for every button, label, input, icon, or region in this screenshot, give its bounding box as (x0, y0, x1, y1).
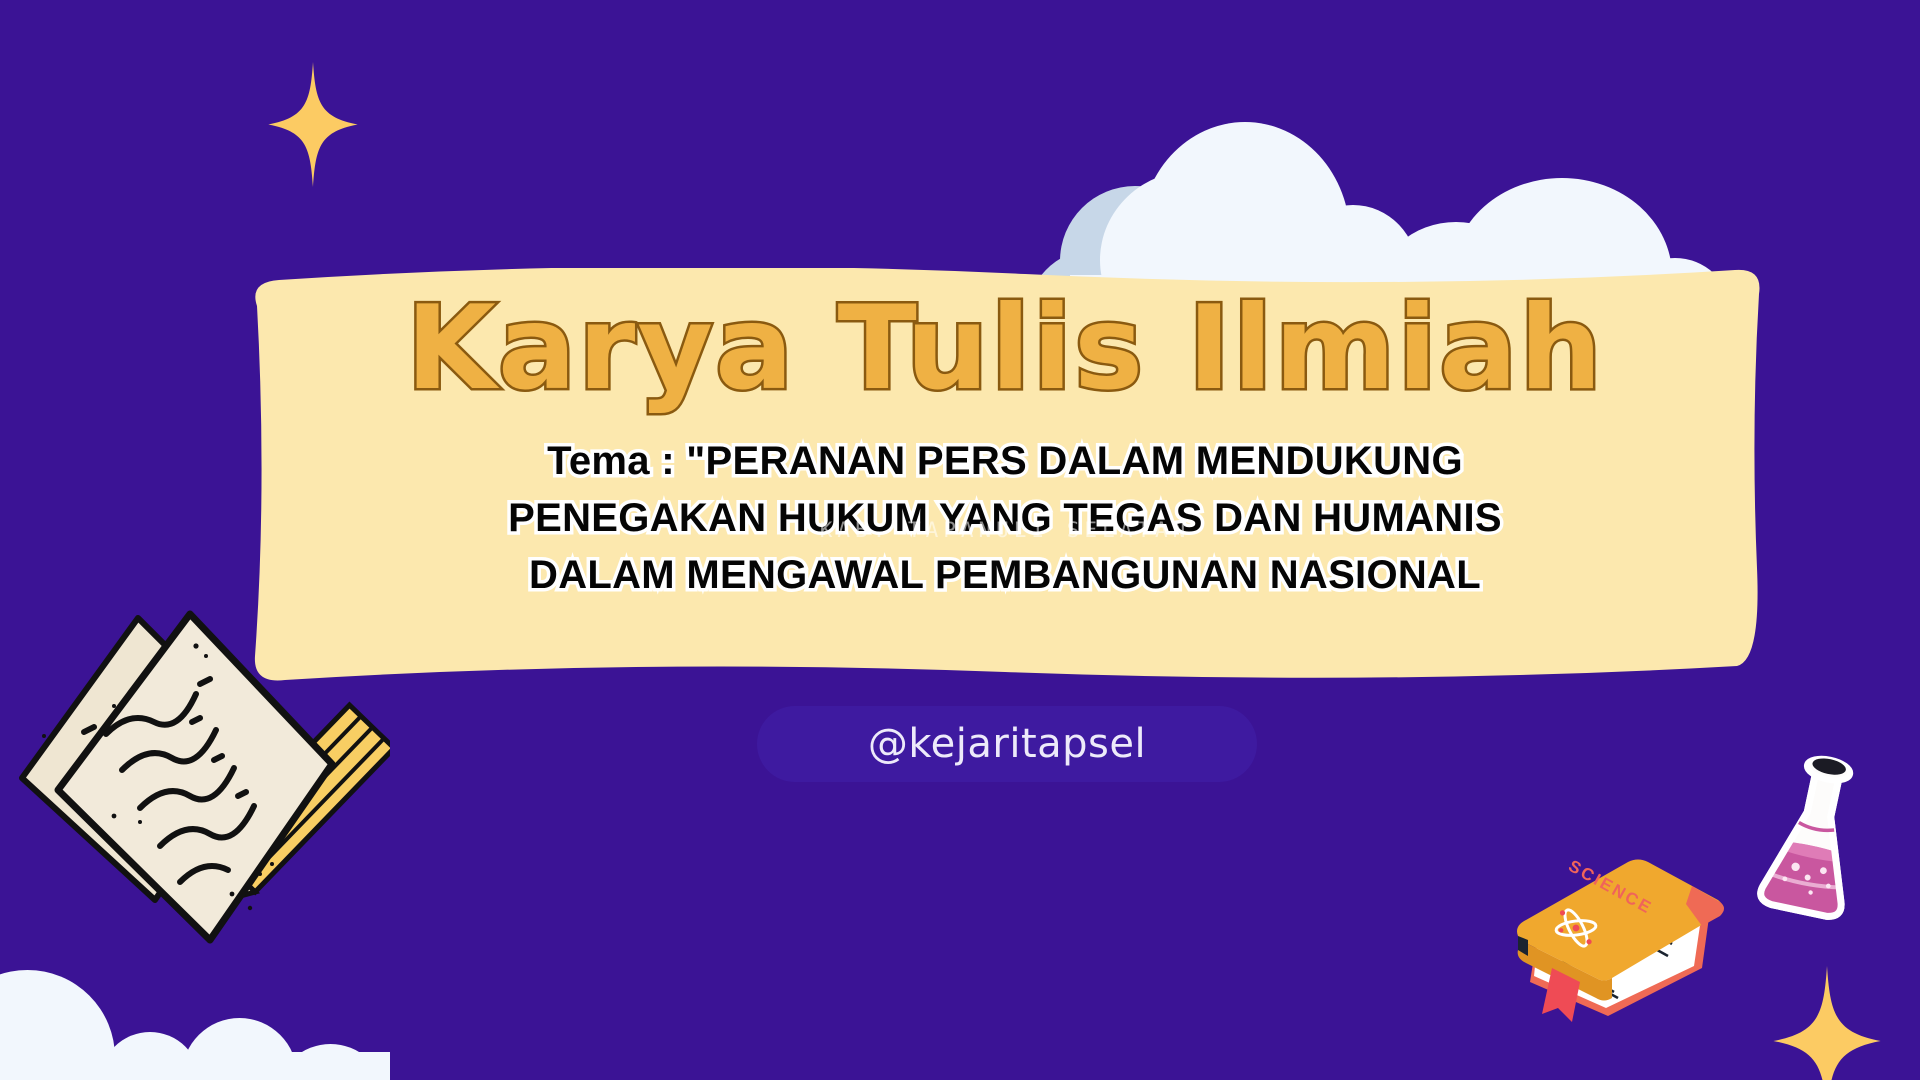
subtitle-line-3: DALAM MENGAWAL PEMBANGUNAN NASIONAL (365, 547, 1645, 604)
sparkle-bottom-right-icon (1768, 966, 1886, 1080)
title-banner: Karya Tulis Ilmiah Tema : "PERANAN PERS … (245, 268, 1765, 698)
cloud-base (0, 1052, 390, 1080)
sparkle-top-left-icon (268, 62, 358, 187)
page-title: Karya Tulis Ilmiah (406, 286, 1604, 411)
handle-text: @kejaritapsel (868, 721, 1146, 767)
book-icon: SCIENCE (1496, 826, 1736, 1026)
subtitle-line-2: PENEGAKAN HUKUM YANG TEGAS DAN HUMANIS (365, 490, 1645, 547)
handle-badge[interactable]: @kejaritapsel (757, 706, 1257, 782)
subtitle-block: Tema : "PERANAN PERS DALAM MENDUKUNG PEN… (365, 433, 1645, 603)
subtitle-line-1: Tema : "PERANAN PERS DALAM MENDUKUNG (365, 433, 1645, 490)
flask-icon (1752, 748, 1876, 928)
poster-canvas: SCIENCE (0, 0, 1920, 1080)
